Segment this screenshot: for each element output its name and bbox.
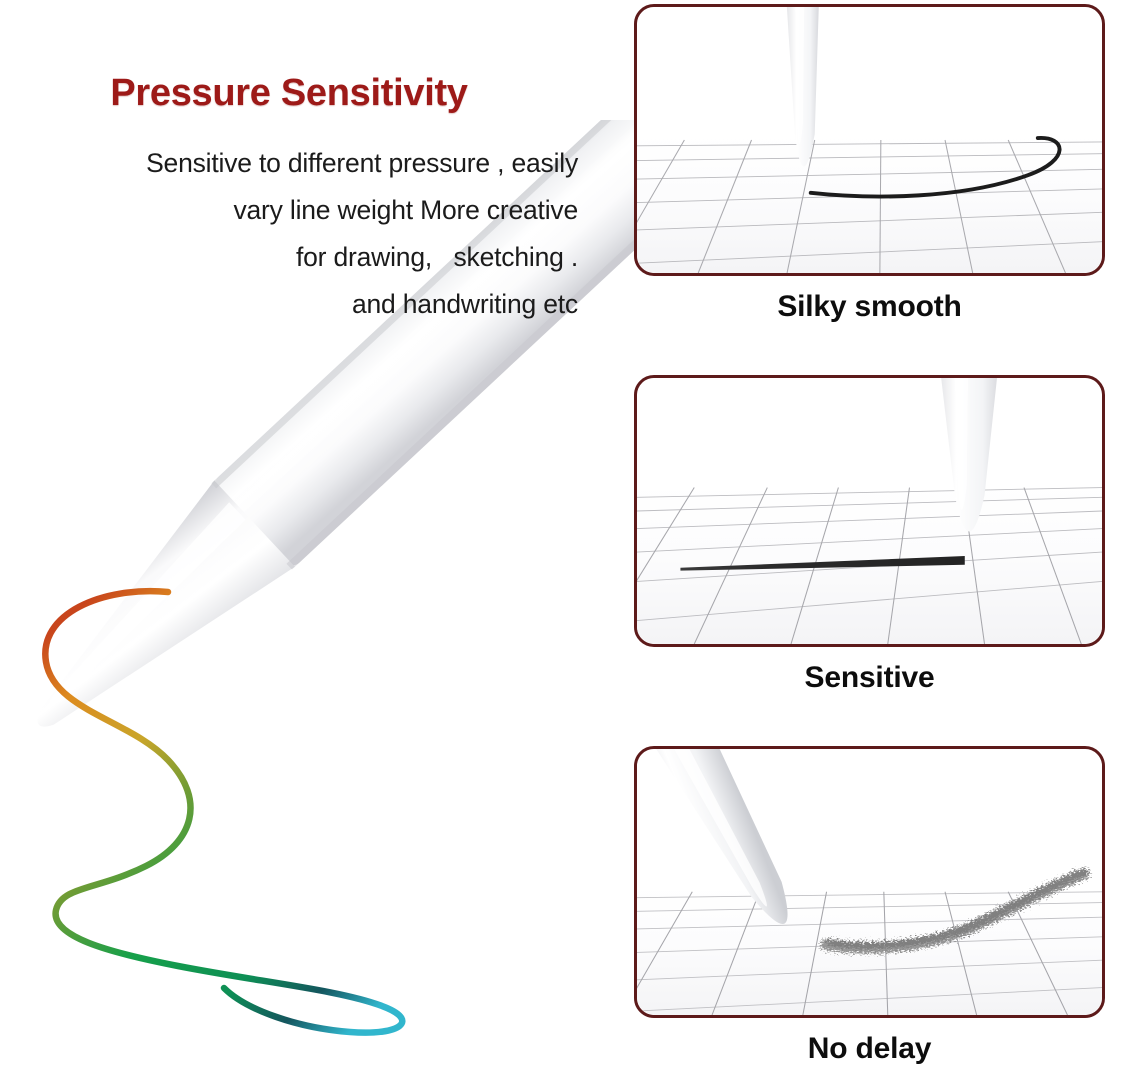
description-line-1: Sensitive to different pressure , easily [40, 140, 578, 187]
panel-caption-no-delay: No delay [634, 1032, 1105, 1066]
sensitive-illustration [637, 378, 1102, 644]
description-line-2: vary line weight More creative [40, 187, 578, 234]
pressure-gradient-stroke [10, 570, 630, 1040]
demo-panel-no-delay [634, 746, 1105, 1018]
description-paragraph: Sensitive to different pressure , easily… [40, 140, 578, 328]
silky-smooth-illustration [637, 7, 1102, 273]
panel-caption-silky-smooth: Silky smooth [634, 290, 1105, 324]
description-line-3: for drawing, sketching . [40, 234, 578, 281]
no-delay-illustration [637, 749, 1102, 1015]
left-content-column: Pressure Sensitivity Sensitive to differ… [0, 0, 620, 1080]
description-line-4: and handwriting etc [40, 281, 578, 328]
page-title: Pressure Sensitivity [0, 72, 578, 115]
demo-panel-sensitive [634, 375, 1105, 647]
panel-caption-sensitive: Sensitive [634, 661, 1105, 695]
demo-panel-silky-smooth [634, 4, 1105, 276]
product-feature-image: Pressure Sensitivity Sensitive to differ… [0, 0, 1121, 1080]
